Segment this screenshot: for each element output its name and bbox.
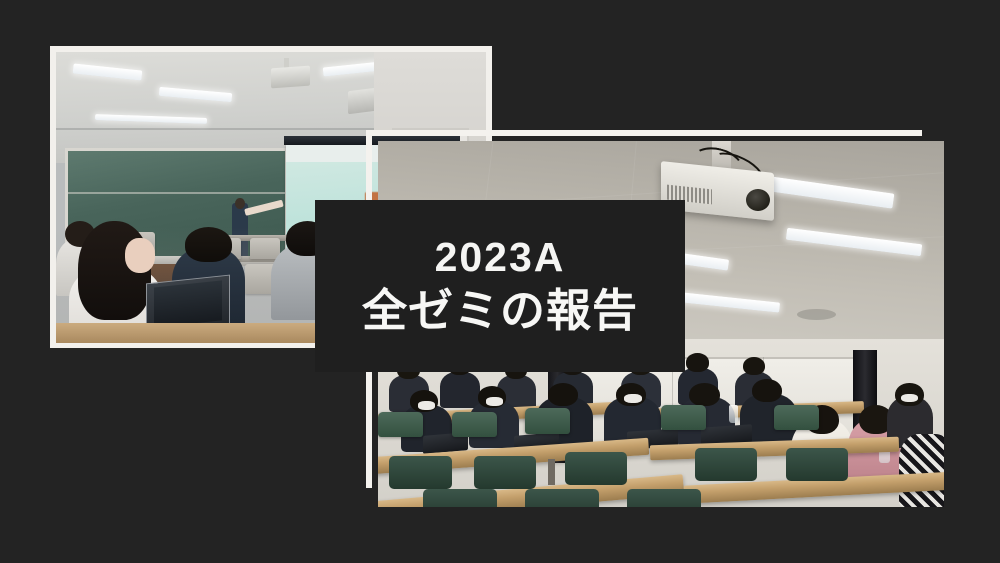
- title-line-year: 2023A: [435, 235, 566, 281]
- chalkboard-rail: [65, 192, 289, 194]
- face-mask: [901, 394, 918, 403]
- chair: [786, 448, 848, 481]
- chair: [627, 489, 701, 507]
- title-line-subject: 全ゼミの報告: [362, 284, 638, 337]
- student-head: [125, 238, 155, 273]
- student-head: [686, 353, 709, 371]
- face-mask: [418, 401, 435, 410]
- chair: [378, 412, 423, 438]
- chair: [474, 456, 536, 489]
- desk-leg: [548, 459, 555, 485]
- chair: [695, 448, 757, 481]
- chair: [389, 456, 451, 489]
- title-card: 2023A 全ゼミの報告: [315, 200, 685, 372]
- chair: [423, 489, 497, 507]
- chair: [525, 489, 599, 507]
- water-bottle: [729, 405, 738, 423]
- chair: [774, 405, 819, 431]
- auditorium-seat: [250, 238, 280, 258]
- student-head: [689, 383, 720, 406]
- chair: [661, 405, 706, 431]
- student-head: [548, 383, 579, 406]
- student: [899, 434, 944, 507]
- student-head: [185, 227, 232, 262]
- face-mask: [624, 394, 642, 404]
- chair: [565, 452, 627, 485]
- chair: [525, 408, 570, 434]
- slide-canvas: 2023A 全ゼミの報告: [0, 0, 1000, 563]
- laptop-screen: [154, 280, 223, 327]
- face-mask: [486, 397, 503, 406]
- projector-lens: [746, 189, 770, 211]
- chair: [452, 412, 497, 438]
- student-head: [752, 379, 783, 402]
- student: [440, 372, 480, 409]
- projector-icon: [271, 65, 310, 88]
- student-head: [743, 357, 766, 375]
